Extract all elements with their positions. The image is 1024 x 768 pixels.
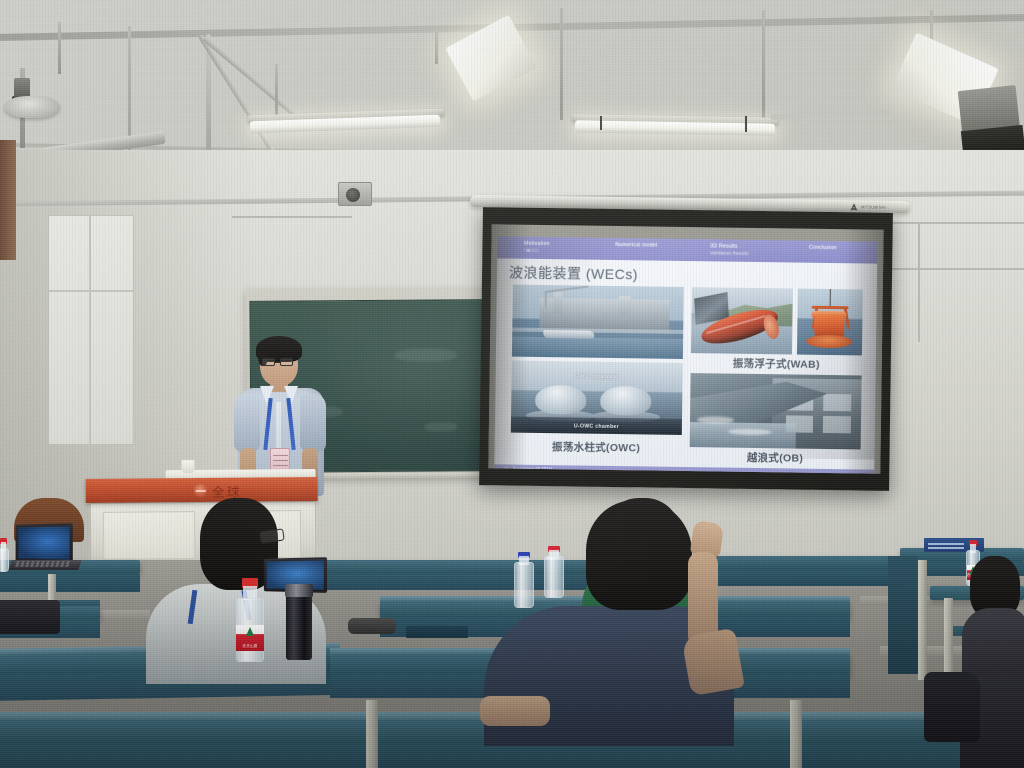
presenter-sleeve-left	[234, 394, 260, 452]
three-diamond-icon	[850, 203, 859, 211]
fan-hub	[4, 96, 60, 118]
service-boat	[543, 330, 594, 339]
structure-opening	[824, 394, 852, 411]
student-center-navy	[480, 500, 750, 740]
slide-nav-results-sub: Validation Results	[710, 251, 748, 257]
badge-line	[273, 460, 288, 461]
water-bottle-left[interactable]	[0, 538, 9, 572]
slide-nav-conclusion: Conclusion	[809, 245, 837, 251]
mitsubishi-logo: MITSUBISHI	[850, 202, 904, 212]
window-mullion	[89, 216, 91, 446]
water-bottle-blue-cap[interactable]	[514, 552, 534, 608]
laptop-on-desk[interactable]	[10, 524, 82, 572]
figure-grid: 振荡浮子式(WAB)	[506, 285, 866, 470]
presentation-slide: Motivation □■□□□ Numerical model 3D Resu…	[495, 236, 878, 459]
wall-speaker	[338, 182, 372, 206]
binder-label-stripe	[928, 547, 964, 549]
hanger-rod	[58, 22, 61, 74]
light-hanger	[600, 116, 602, 130]
wall-panel-line	[232, 216, 352, 218]
buoy-float-ring	[806, 335, 852, 349]
chalk-smudge	[395, 348, 457, 362]
pencil-case[interactable]	[348, 618, 396, 634]
desk-front-panel	[0, 574, 140, 592]
owc-dome	[535, 385, 587, 415]
bottle-body	[544, 556, 564, 598]
owc-breakwater-plant-photo	[512, 285, 684, 359]
desk-leg	[790, 700, 802, 768]
window-panel	[48, 215, 134, 445]
desk-leg	[366, 700, 378, 768]
door-frame	[0, 140, 16, 260]
bag-under-desk	[924, 672, 980, 742]
desk-leg	[918, 560, 927, 680]
plant-tower	[554, 292, 563, 314]
slide-nav-progress-dots: □■□□□	[524, 248, 539, 253]
slide-title: 波浪能装置 (WECs)	[509, 263, 867, 288]
student-hair	[586, 500, 692, 610]
figure-ob: 越浪式(OB)	[689, 373, 861, 469]
water-bottle-nongfu[interactable]: 农夫山泉	[236, 578, 264, 662]
bottle-body: 农夫山泉	[236, 598, 264, 662]
slide-nav-numerical-model: Numerical model	[615, 242, 657, 249]
desk-side-panel	[888, 556, 918, 674]
badge-line	[273, 465, 288, 466]
laptop-lid	[16, 523, 73, 563]
photo-water	[690, 422, 796, 449]
structure-opening	[823, 416, 851, 433]
glasses-icon	[262, 358, 296, 367]
plant-tower	[618, 296, 630, 315]
slide-nav-motivation: Motivation	[524, 241, 550, 247]
hanger-rod	[560, 8, 563, 120]
crane-jib	[545, 286, 589, 294]
window-mullion	[49, 290, 135, 292]
projector-screen[interactable]: Motivation □■□□□ Numerical model 3D Resu…	[479, 207, 893, 491]
cup-on-podium	[181, 460, 194, 473]
binder-label-stripe	[928, 543, 964, 545]
wall-panel-line	[918, 222, 920, 342]
figure-owc: OWC breakwater U-OWC chamber 振荡水柱式(OWC)	[510, 285, 683, 467]
light-hanger	[745, 116, 747, 132]
bottle-label: 农夫山泉	[236, 625, 263, 651]
figure-caption-ob: 越浪式(OB)	[689, 447, 860, 469]
lift-cable	[829, 289, 831, 306]
thermos-cap	[285, 584, 313, 597]
glasses-icon	[259, 528, 284, 543]
pine-tree-icon	[246, 627, 254, 636]
classroom-scene: MITSUBISHI Motivation □■□□□ Numerical mo…	[0, 0, 1024, 768]
black-thermos-flask[interactable]	[286, 584, 312, 660]
student-arm-on-desk	[480, 696, 550, 726]
chalk-smudge	[424, 423, 458, 432]
overtopping-ramp-photo	[690, 373, 862, 449]
hanger-rod	[435, 30, 438, 64]
brand-text: MITSUBISHI	[861, 204, 886, 209]
bottle-body	[0, 548, 9, 572]
notebook-on-desk[interactable]	[406, 626, 468, 638]
figure-caption-wab: 振荡浮子式(WAB)	[691, 353, 862, 375]
dark-object-on-desk	[0, 600, 60, 634]
hanger-rod	[762, 10, 765, 120]
water-bottle-red-cap[interactable]	[544, 546, 564, 598]
ceiling-fan	[0, 72, 167, 122]
crane-mast	[545, 291, 547, 310]
owc-inner-label-top: OWC breakwater	[512, 372, 683, 380]
screen-surface: Motivation □■□□□ Numerical model 3D Resu…	[488, 224, 883, 473]
point-absorber-buoy-photo	[797, 289, 863, 356]
student-upper-arm	[681, 628, 745, 696]
presenter-sleeve-right	[300, 394, 326, 452]
wab-photo-row	[691, 287, 863, 355]
u-owc-chamber-photo: OWC breakwater U-OWC chamber	[511, 361, 683, 435]
figure-caption-owc: 振荡水柱式(OWC)	[510, 437, 681, 459]
photo-sea	[512, 336, 683, 359]
badge-line	[273, 455, 288, 456]
bottle-brand-text: 农夫山泉	[236, 644, 263, 649]
figure-wab: 振荡浮子式(WAB)	[691, 287, 863, 375]
laptop-keyboard[interactable]	[15, 561, 71, 567]
slide-nav-results: 3D Results	[710, 243, 737, 249]
light-fixture	[770, 110, 890, 120]
desk-front-panel	[0, 744, 1024, 768]
slide-body: 波浪能装置 (WECs)	[494, 258, 877, 469]
pelamis-attenuator-photo	[691, 287, 793, 354]
laptop-screen[interactable]	[18, 526, 69, 559]
owc-dome	[600, 386, 652, 416]
bottle-body	[514, 562, 534, 608]
hanger-rod	[275, 64, 278, 116]
conduit-pipe	[202, 37, 305, 124]
